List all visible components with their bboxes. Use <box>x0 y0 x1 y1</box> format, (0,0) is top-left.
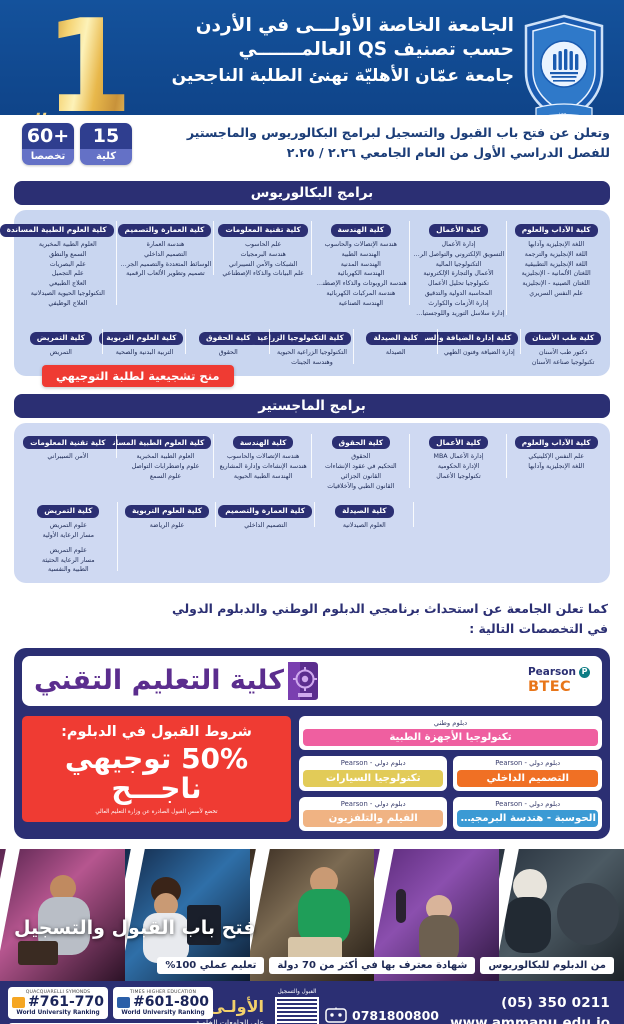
program-list: التمريض <box>22 348 100 358</box>
program-item: هندسة الروبوتات والذكاء الإصطناعي <box>315 279 407 289</box>
diploma-card-type: دبلوم دولي - Pearson <box>303 800 444 808</box>
program-item: هندسة الإتصالات والحاسوب <box>315 240 407 250</box>
diploma-cards: دبلوم وطنيتكنولوجيا الأجهزة الطبيةدبلوم … <box>299 716 602 832</box>
btec-label: BTEC <box>528 680 590 695</box>
badge-majors-caption: تخصصا <box>22 149 74 165</box>
college-column: كلية الأعمالإدارة الأعمال MBAالإدارة الح… <box>410 430 508 482</box>
college-name: كلية التمريض <box>37 505 99 518</box>
college-column: كلية التمريضالتمريض <box>19 325 103 358</box>
program-item: إدارة الأزمات والكوارث <box>413 299 505 309</box>
master-colleges-row2: كلية الصيدلةالعلوم الصيدلانيةكلية العمار… <box>19 498 605 575</box>
program-item: علوم الرياضة <box>121 521 214 531</box>
master-colleges-row1: كلية الآداب والعلومعلم النفس الإكلينيكيا… <box>19 430 605 492</box>
program-item: علم البصريات <box>22 260 114 270</box>
photo-strip: فتح باب القبول والتسجيل من الدبلوم للبكا… <box>0 849 624 981</box>
announcement-strip: وتعلن عن فتح باب القبول والتسجيل لبرامج … <box>0 115 624 181</box>
diploma-intro: كما تعلن الجامعة عن استحداث برنامجي الدب… <box>16 599 608 639</box>
technical-college-header: P Pearson BTEC كلية التعليم ال <box>22 656 602 706</box>
program-list: دكتور طب الأسنانتكنولوجيا صناعة الأسنان <box>524 348 602 368</box>
photo-tag: تعليم عملي 100% <box>157 957 264 974</box>
program-item: التكنولوجيا الحيوية الصيدلانية <box>22 289 114 299</box>
header-title-line1: الجامعة الخاصة الأولـــى في الأردن <box>130 14 514 38</box>
program-item: العلوم الطبية المخبرية <box>120 452 212 462</box>
program-list: التصميم الداخلي <box>219 521 312 531</box>
diploma-card[interactable]: دبلوم دولي - Pearsonالحوسبة - هندسة البر… <box>453 797 602 832</box>
college-column: كلية الحقوقالحقوقالتحكيم في عقود الإنشاء… <box>312 430 410 492</box>
program-item: اللغة الإنجليزية وآدابها <box>510 462 602 472</box>
pearson-label: Pearson <box>528 667 576 678</box>
ranking-the: TIMES HIGHER EDUCATION #601-800 World Un… <box>113 987 213 1019</box>
qr-caption: القبول والتسجيل <box>275 989 319 995</box>
announcement-text: وتعلن عن فتح باب القبول والتسجيل لبرامج … <box>187 123 610 164</box>
program-list: العلوم الطبية المخبريةعلوم واضطرابات الت… <box>120 452 212 482</box>
college-name: كلية الصيدلة <box>366 332 425 345</box>
technical-college-box: P Pearson BTEC كلية التعليم ال <box>14 648 610 840</box>
photo-overlay-tags: من الدبلوم للبكالوريوسشهادة معترف بها في… <box>0 957 624 974</box>
college-column: كلية تقنية المعلوماتعلم الحاسوبهندسة الب… <box>214 217 312 279</box>
header-title-line3: جامعة عمّان الأهليّة تهنئ الطلبة الناجحي… <box>130 65 514 87</box>
program-item: الحقوق <box>315 452 407 462</box>
program-item: الأعمال والتجارة الإلكترونية <box>413 269 505 279</box>
rankings-row: QUACQUARELLI SYMONDS #761-770 World Univ… <box>8 987 213 1019</box>
diploma-card-row: دبلوم وطنيتكنولوجيا الأجهزة الطبية <box>299 716 602 751</box>
college-name: كلية الصيدلة <box>335 505 394 518</box>
technical-college-body: دبلوم وطنيتكنولوجيا الأجهزة الطبيةدبلوم … <box>22 716 602 832</box>
program-item: العلوم الصيدلانية <box>318 521 411 531</box>
program-item: علوم واضطرابات التواصل <box>120 462 212 472</box>
college-column: كلية التكنولوجيا الزراعيةالتكنولوجيا الز… <box>270 325 354 368</box>
college-name: كلية الآداب والعلوم <box>515 436 598 449</box>
college-column: كلية العلوم الطبية المساندةالعلوم الطبية… <box>19 217 117 309</box>
header-title-line2: حسب تصنيف QS العالمـــــــي <box>130 38 514 62</box>
diploma-card[interactable]: دبلوم دولي - Pearsonالفيلم والتلفزيون <box>299 797 448 832</box>
footer-contact: (05) 350 0211 www.ammanu.edu.jo <box>450 995 610 1024</box>
program-item: إدارة سلاسل التوريد واللوجستيات الرقمية <box>413 309 505 319</box>
college-column: كلية تقنية المعلوماتالأمن السيبراني <box>19 430 117 463</box>
program-item: تكنولوجيا تحليل الأعمال <box>413 279 505 289</box>
program-item: علوم التمريض <box>22 521 115 531</box>
ranking-qs-value: #761-770 <box>28 995 104 1010</box>
program-item: التصميم الداخلي <box>219 521 312 531</box>
conditions-title: شروط القبول في الدبلوم: <box>28 724 285 740</box>
college-column: كلية العمارة والتصميمالتصميم الداخلي <box>216 498 315 531</box>
college-name: كلية العلوم التربوية <box>99 332 183 345</box>
college-name: كلية الأعمال <box>429 436 488 449</box>
bachelor-section-bar: برامج البكالوريوس <box>14 181 610 205</box>
photo-overlay-title: فتح باب القبول والتسجيل <box>14 917 256 939</box>
program-item: اللغة الإنجليزية والترجمة <box>510 250 602 260</box>
program-list: التربية البدنية والصحية <box>106 348 184 358</box>
figure-body <box>505 897 551 953</box>
badge-colleges-number: 15 <box>80 123 132 149</box>
college-column: كلية الصيدلةالعلوم الصيدلانية <box>315 498 414 531</box>
footer-mobile-block: 0781800800 <box>325 1007 439 1024</box>
college-column: كلية الآداب والعلومعلم النفس الإكلينيكيا… <box>507 430 605 473</box>
college-column: كلية التمريضعلوم التمريضمسار الرعاية الأ… <box>19 498 118 575</box>
ranking-the-value: #601-800 <box>133 995 209 1010</box>
admission-conditions: شروط القبول في الدبلوم: 50% توجيهي ناجــ… <box>22 716 291 823</box>
program-item: علم البيانات والذكاء الإصطناعي <box>217 269 309 279</box>
conditions-percent: 50% توجيهي <box>28 743 285 774</box>
program-list: علم الحاسوبهندسة البرمجياتالشبكات والأمن… <box>217 240 309 280</box>
program-list: علوم التمريضمسار الرعاية الأوليةعلوم الت… <box>22 521 115 576</box>
program-item: الهندسة الكهربائية <box>315 269 407 279</box>
diploma-intro-line2: في التخصصات التالية : <box>16 619 608 639</box>
ranking-qs-label: World University Ranking <box>12 1010 104 1016</box>
college-name: كلية تقنية المعلومات <box>23 436 112 449</box>
college-column: كلية الهندسةهندسة الإتصالات والحاسوبالهن… <box>312 217 410 309</box>
bachelor-colleges-row1: كلية الآداب والعلوماللغة الإنجليزية وآدا… <box>19 217 605 319</box>
program-list: الصيدلة <box>357 348 435 358</box>
badge-majors-number: +60 <box>22 123 74 149</box>
program-item: هندسة الإنشاءات وإدارة المشاريع <box>217 462 309 472</box>
bachelor-colleges-row2: كلية طب الأسناندكتور طب الأسنانتكنولوجيا… <box>19 325 605 368</box>
program-list: إدارة الأعمالالتسويق الإلكتروني والتواصل… <box>413 240 505 320</box>
conditions-pass: ناجـــح <box>28 774 285 803</box>
ranking-the-value-row: #601-800 <box>117 995 209 1010</box>
footer-mobile-number[interactable]: 0781800800 <box>352 1008 439 1023</box>
program-list: هندسة الإتصالات والحاسوبالهندسة الطبيةال… <box>315 240 407 310</box>
diploma-card[interactable]: دبلوم وطنيتكنولوجيا الأجهزة الطبية <box>299 716 602 751</box>
program-item: الهندسة الطبية الحيوية <box>217 472 309 482</box>
program-item: الشبكات والأمن السيبراني <box>217 260 309 270</box>
program-item: اللغة الإنجليزية التطبيقية <box>510 260 602 270</box>
program-item: التسويق الإلكتروني والتواصل الرقمي <box>413 250 505 260</box>
college-column: كلية إدارة الضيافة والسياحةإدارة الضيافة… <box>438 325 522 358</box>
header: # 1 الجامعة الخاصة الأولـــى في الأردن ح… <box>0 0 624 115</box>
program-item: وهندسة الجينات <box>273 358 351 368</box>
program-list: علوم الرياضة <box>121 521 214 531</box>
technical-education-logo-icon <box>284 659 322 703</box>
program-item: هندسة البرمجيات <box>217 250 309 260</box>
program-item: التمريض <box>22 348 100 358</box>
technical-college-title: كلية التعليم التقني <box>34 665 284 696</box>
college-name: كلية الهندسة <box>233 436 294 449</box>
whatsapp-phone-icon <box>325 1007 347 1024</box>
program-list: العلوم الصيدلانية <box>318 521 411 531</box>
photo-tag: شهادة معترف بها في أكثر من 70 دولة <box>269 957 475 974</box>
qr-code[interactable] <box>275 997 319 1024</box>
poster-root: # 1 الجامعة الخاصة الأولـــى في الأردن ح… <box>0 0 624 1024</box>
diploma-card-name: تكنولوجيا الأجهزة الطبية <box>303 729 598 746</box>
diploma-card-type: دبلوم دولي - Pearson <box>457 800 598 808</box>
college-column: كلية العلوم التربويةالتربية البدنية والص… <box>103 325 187 358</box>
program-item: علوم السمع <box>120 472 212 482</box>
program-item: علم الحاسوب <box>217 240 309 250</box>
program-list: إدارة الأعمال MBAالإدارة الحكوميةتكنولوج… <box>413 452 505 482</box>
qr-block: القبول والتسجيل <box>275 989 319 1024</box>
diploma-card-name: تكنولوجيا السيارات <box>303 770 444 787</box>
program-item: الهندسة الطبية <box>315 250 407 260</box>
program-item: الوسائط المتعددة والتصميم الجرافيكي <box>120 260 212 270</box>
master-panel: كلية الآداب والعلومعلم النفس الإكلينيكيا… <box>14 423 610 584</box>
announcement-line2: للفصل الدراسي الأول من العام الجامعي ٢.٢… <box>187 143 610 163</box>
college-column: كلية العلوم الطبية المساندةالعلوم الطبية… <box>117 430 215 482</box>
program-item: مسار الرعاية الأولية <box>22 531 115 541</box>
college-column: كلية الحقوقالحقوق <box>186 325 270 358</box>
college-name: كلية تقنية المعلومات <box>218 224 307 237</box>
program-item: الصيدلة <box>357 348 435 358</box>
master-section-bar: برامج الماجستير <box>14 394 610 418</box>
program-item: اللغة الإنجليزية وآدابها <box>510 240 602 250</box>
program-item: هندسة المركبات الكهربائية <box>315 289 407 299</box>
program-item: إدارة الأعمال <box>413 240 505 250</box>
program-item: الهندسة المدنية <box>315 260 407 270</box>
program-item: دكتور طب الأسنان <box>524 348 602 358</box>
program-item: التكنولوجيا الزراعية الحيوية <box>273 348 351 358</box>
header-titles: الجامعة الخاصة الأولـــى في الأردن حسب ت… <box>130 14 514 87</box>
diploma-card-type: دبلوم دولي - Pearson <box>303 759 444 767</box>
program-list: اللغة الإنجليزية وآدابهااللغة الإنجليزية… <box>510 240 602 300</box>
ranking-qs: QUACQUARELLI SYMONDS #761-770 World Univ… <box>8 987 108 1019</box>
program-item: علم النفس الإكلينيكي <box>510 452 602 462</box>
college-name: كلية الهندسة <box>331 224 392 237</box>
program-item: المحاسبة الدولية والتدقيق <box>413 289 505 299</box>
program-item: إدارة الضيافة وفنون الطهي <box>441 348 519 358</box>
pearson-dot-icon: P <box>579 667 590 678</box>
program-item: التصميم الداخلي <box>120 250 212 260</box>
diploma-intro-line1: كما تعلن الجامعة عن استحداث برنامجي الدب… <box>16 599 608 619</box>
conditions-note: تخضع لأسس القبول الصادرة عن وزارة التعلي… <box>28 809 285 815</box>
photo-tag: من الدبلوم للبكالوريوس <box>480 957 614 974</box>
program-item: الحقوق <box>189 348 267 358</box>
diploma-card-row: دبلوم دولي - Pearsonالحوسبة - هندسة البر… <box>299 797 602 832</box>
program-item: العلاج الطبيعي <box>22 279 114 289</box>
diploma-card-type: دبلوم وطني <box>303 719 598 727</box>
program-item: هندسة الإتصالات والحاسوب <box>217 452 309 462</box>
college-name: كلية العمارة والتصميم <box>218 505 312 518</box>
badge-colleges: 15 كلية <box>80 123 132 165</box>
university-crest-icon: ١٩٩٠ <box>518 12 610 124</box>
college-column: كلية الصيدلةالصيدلة <box>354 325 438 358</box>
college-name: كلية العمارة والتصميم <box>118 224 212 237</box>
pearson-row: P Pearson <box>528 667 590 678</box>
program-item: إدارة الأعمال MBA <box>413 452 505 462</box>
diploma-card-name: الحوسبة - هندسة البرمجيات <box>457 810 598 827</box>
college-name: كلية طب الأسنان <box>525 332 601 345</box>
program-list: علم النفس الإكلينيكياللغة الإنجليزية وآد… <box>510 452 602 472</box>
program-list: هندسة العمارةالتصميم الداخليالوسائط المت… <box>120 240 212 280</box>
program-item: القانون الجزائي <box>315 472 407 482</box>
program-list: التكنولوجيا الزراعية الحيويةوهندسة الجين… <box>273 348 351 368</box>
college-column: كلية الأعمالإدارة الأعمالالتسويق الإلكتر… <box>410 217 508 319</box>
grants-ribbon: منح تشجيعية لطلبة التوجيهي <box>42 365 234 387</box>
program-item: العلوم الطبية المخبرية <box>22 240 114 250</box>
college-column: كلية الهندسةهندسة الإتصالات والحاسوبهندس… <box>214 430 312 482</box>
rank-number: 1 <box>44 4 133 132</box>
program-item: تصميم وتطوير الألعاب الرقمية <box>120 269 212 279</box>
program-item: علم التجميل <box>22 269 114 279</box>
diploma-card-name: التصميم الداخلي <box>457 770 598 787</box>
diploma-card-row: دبلوم دولي - Pearsonالتصميم الداخليدبلوم… <box>299 756 602 791</box>
college-name: كلية الحقوق <box>199 332 258 345</box>
figure-mic <box>396 889 406 923</box>
college-column: كلية الآداب والعلوماللغة الإنجليزية وآدا… <box>507 217 605 299</box>
program-list: الأمن السيبراني <box>22 452 114 462</box>
ranking-the-label: World University Ranking <box>117 1010 209 1016</box>
footer: (05) 350 0211 www.ammanu.edu.jo 07818008… <box>0 981 624 1024</box>
program-item: الطبية والنفسية <box>22 565 115 575</box>
program-item: مسار الرعاية الحثيثة <box>22 556 115 566</box>
college-column: كلية العلوم التربويةعلوم الرياضة <box>118 498 217 531</box>
college-name: كلية الحقوق <box>332 436 391 449</box>
program-list: إدارة الضيافة وفنون الطهي <box>441 348 519 358</box>
rankings-block: QUACQUARELLI SYMONDS #761-770 World Univ… <box>8 987 213 1024</box>
diploma-card[interactable]: دبلوم دولي - Pearsonتكنولوجيا السيارات <box>299 756 448 791</box>
program-item: العلاج الوظيفي <box>22 299 114 309</box>
qs-mark-icon <box>12 997 25 1008</box>
program-item: التكنولوجيا المالية <box>413 260 505 270</box>
footer-phone[interactable]: (05) 350 0211 <box>450 995 610 1011</box>
pearson-btec-logo: P Pearson BTEC <box>528 667 590 695</box>
bachelor-panel: كلية الآداب والعلوماللغة الإنجليزية وآدا… <box>14 210 610 376</box>
stat-badges: 15 كلية +60 تخصصا <box>22 123 132 165</box>
program-item: اللغتان الألمانية - الإنجليزية <box>510 269 602 279</box>
college-name: كلية الآداب والعلوم <box>515 224 598 237</box>
program-item: تكنولوجيا صناعة الأسنان <box>524 358 602 368</box>
college-column: كلية طب الأسناندكتور طب الأسنانتكنولوجيا… <box>521 325 605 368</box>
diploma-card[interactable]: دبلوم دولي - Pearsonالتصميم الداخلي <box>453 756 602 791</box>
diploma-card-type: دبلوم دولي - Pearson <box>457 759 598 767</box>
program-item: اللغتان الصينية - الإنجليزية <box>510 279 602 289</box>
program-list: الحقوق <box>189 348 267 358</box>
program-item: الأمن السيبراني <box>22 452 114 462</box>
college-name: كلية التمريض <box>30 332 92 345</box>
college-name: كلية العلوم التربوية <box>125 505 209 518</box>
program-list: هندسة الإتصالات والحاسوبهندسة الإنشاءات … <box>217 452 309 482</box>
program-item: الإدارة الحكومية <box>413 462 505 472</box>
program-item: التحكيم في عقود الإنشاءات <box>315 462 407 472</box>
ranking-qs-value-row: #761-770 <box>12 995 104 1010</box>
figure-machine <box>557 883 619 945</box>
program-item: علم النفس السريري <box>510 289 602 299</box>
college-name: كلية الأعمال <box>429 224 488 237</box>
badge-colleges-caption: كلية <box>80 149 132 165</box>
program-item: تكنولوجيا الأعمال <box>413 472 505 482</box>
program-item: علوم التمريض <box>22 546 115 556</box>
program-list: العلوم الطبية المخبريةالسمع والنطقعلم ال… <box>22 240 114 310</box>
the-mark-icon <box>117 997 130 1008</box>
college-name: كلية العلوم الطبية المساندة <box>0 224 114 237</box>
diploma-card-name: الفيلم والتلفزيون <box>303 810 444 827</box>
program-list: الحقوقالتحكيم في عقود الإنشاءاتالقانون ا… <box>315 452 407 492</box>
college-column: كلية العمارة والتصميمهندسة العمارةالتصمي… <box>117 217 215 279</box>
footer-website[interactable]: www.ammanu.edu.jo <box>450 1015 610 1024</box>
program-item: هندسة العمارة <box>120 240 212 250</box>
program-item: القانون الطبي والأخلاقيات <box>315 482 407 492</box>
program-item: التربية البدنية والصحية <box>106 348 184 358</box>
announcement-line1: وتعلن عن فتح باب القبول والتسجيل لبرامج … <box>187 123 610 143</box>
badge-majors: +60 تخصصا <box>22 123 74 165</box>
program-item: الهندسة الصناعية <box>315 299 407 309</box>
program-item: السمع والنطق <box>22 250 114 260</box>
